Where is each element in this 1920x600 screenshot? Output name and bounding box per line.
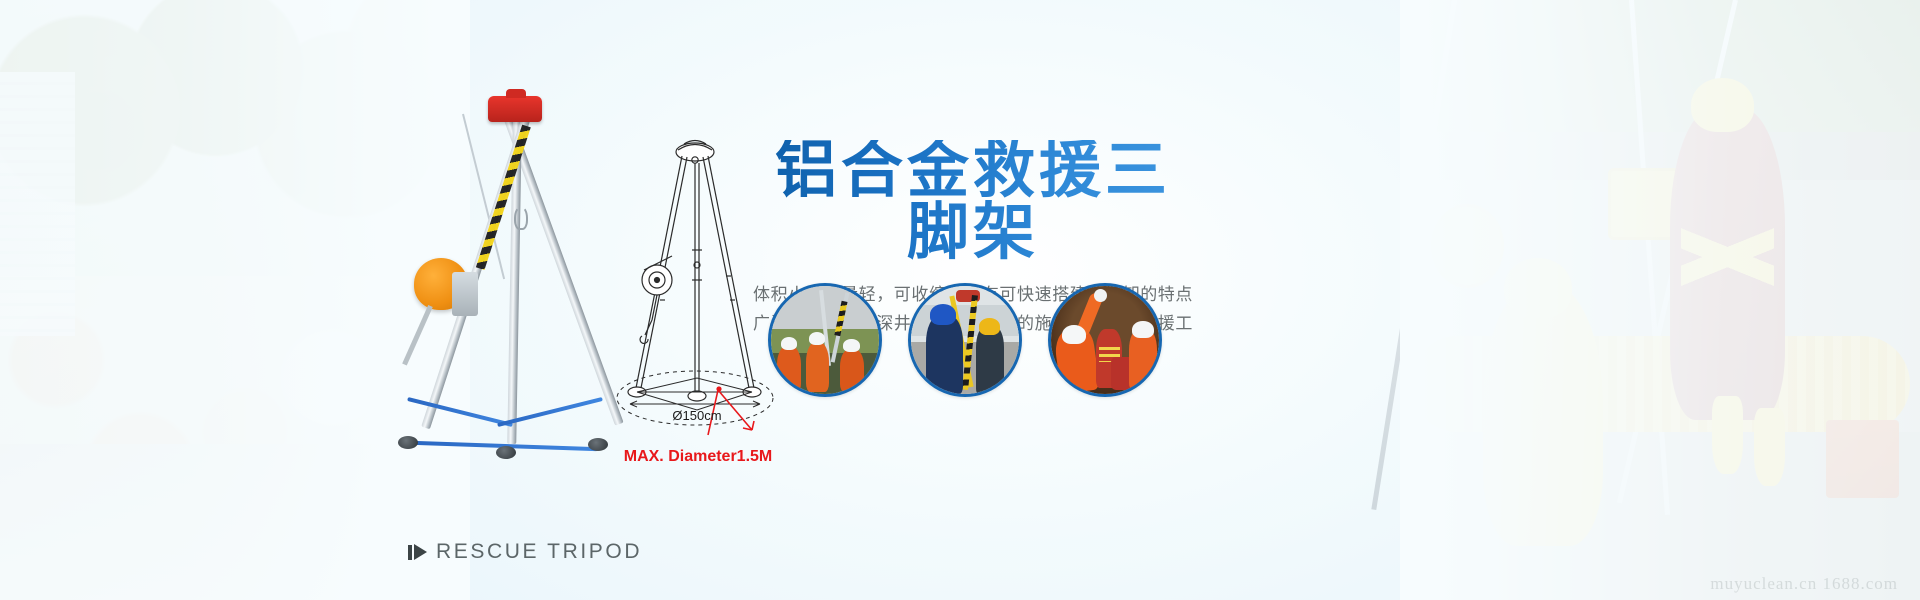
page-title: 铝合金救援三脚架 <box>748 140 1198 264</box>
product-name-label: RESCUE TRIPOD <box>408 540 642 564</box>
tripod-foot-1 <box>398 436 418 449</box>
thumb-1-image <box>771 286 879 394</box>
tripod-foot-2 <box>496 446 516 459</box>
max-diameter-note: MAX. Diameter1.5M <box>608 448 788 466</box>
thumbnail-field-rescue[interactable] <box>768 283 882 397</box>
play-triangle-icon <box>408 544 427 560</box>
product-name-text: RESCUE TRIPOD <box>436 540 642 564</box>
tripod-winch-handle <box>402 305 433 366</box>
tripod-winch-mount <box>452 272 478 316</box>
thumb-2-image <box>911 286 1019 394</box>
thumb-3-image <box>1051 286 1159 394</box>
product-photo-tripod <box>392 88 622 458</box>
thumbnail-gallery <box>768 283 1162 397</box>
background-photo-right <box>1400 0 1920 600</box>
tripod-hook-icon <box>514 206 528 230</box>
diameter-label: Ø150cm <box>612 408 782 423</box>
tripod-head-red <box>488 96 542 122</box>
thumbnail-shaft-rescue[interactable] <box>1048 283 1162 397</box>
product-banner: muyuclean.cn 1688.com RESCUE TRIPOD <box>0 0 1920 600</box>
thumbnail-winch-operation[interactable] <box>908 283 1022 397</box>
right-fade-overlay-2 <box>1400 0 1920 600</box>
watermark: muyuclean.cn 1688.com <box>1710 574 1898 594</box>
